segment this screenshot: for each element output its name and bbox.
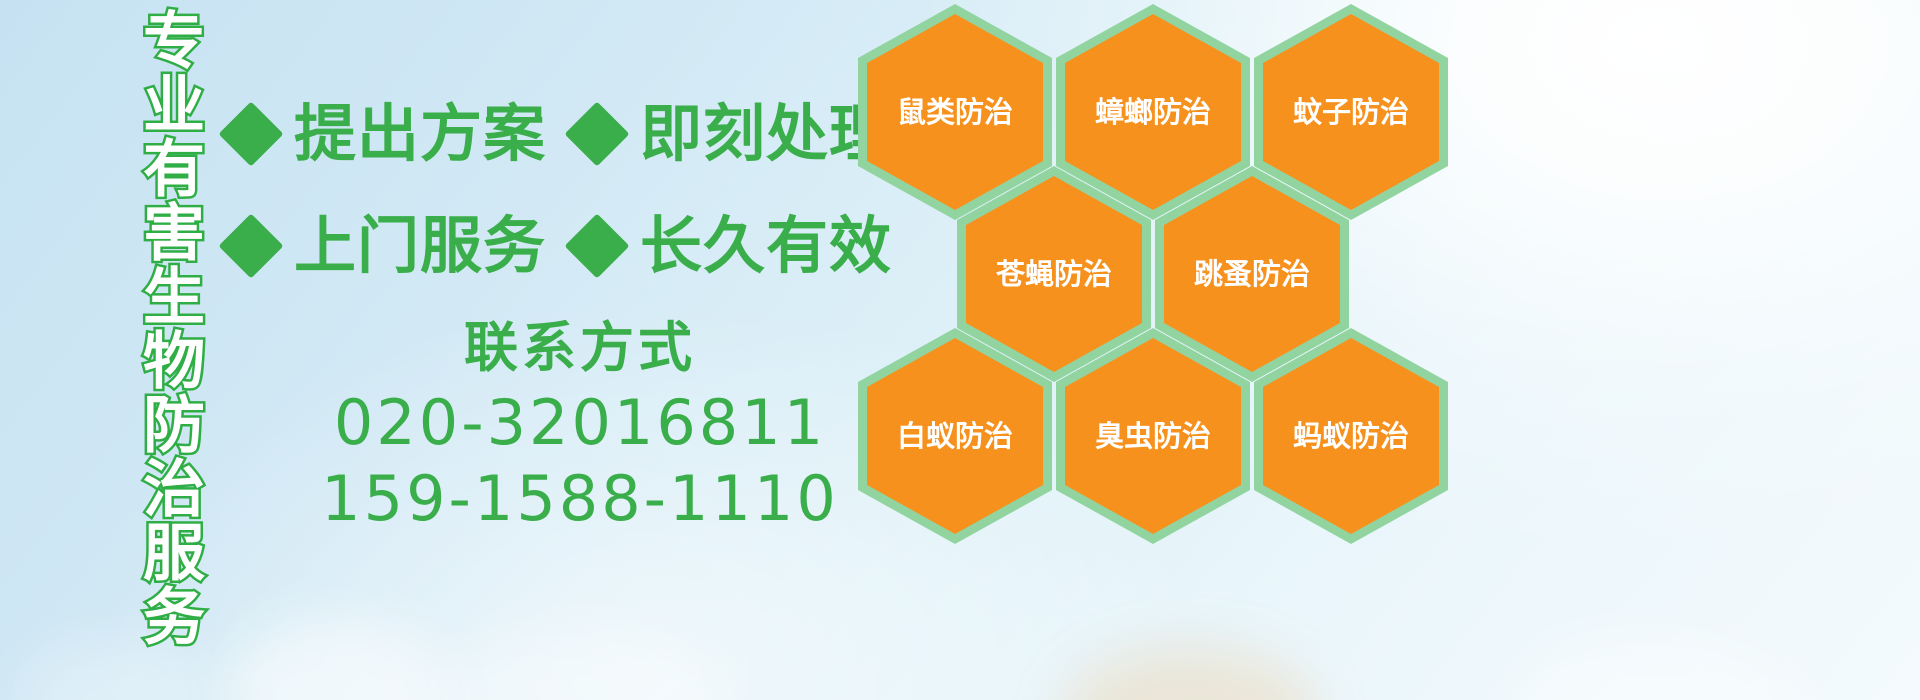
contact-block: 联系方式 020-32016811 159-1588-1110 xyxy=(300,312,860,536)
feature-item-propose-plan: 提出方案 xyxy=(228,103,546,165)
contact-title: 联系方式 xyxy=(300,312,860,385)
hex-inner-fill: 苍蝇防治 xyxy=(966,176,1142,372)
hex-inner-fill: 蟑螂防治 xyxy=(1065,14,1241,210)
service-label: 跳蚤防治 xyxy=(1194,260,1310,289)
background-blur-blob xyxy=(1500,636,1800,700)
hex-inner-fill: 鼠类防治 xyxy=(867,14,1043,210)
landline-phone-number[interactable]: 020-32016811 xyxy=(300,385,860,461)
hex-inner-fill: 蚂蚁防治 xyxy=(1263,338,1439,534)
hex-inner-fill: 臭虫防治 xyxy=(1065,338,1241,534)
service-label: 苍蝇防治 xyxy=(996,260,1112,289)
background-blur-blob xyxy=(220,620,450,700)
feature-list: 提出方案 即刻处理 上门服务 长久有效 xyxy=(228,78,868,302)
hex-inner-fill: 跳蚤防治 xyxy=(1164,176,1340,372)
service-label: 蚂蚁防治 xyxy=(1293,422,1409,451)
service-label: 蟑螂防治 xyxy=(1095,98,1211,127)
background-blur-blob xyxy=(430,630,730,700)
vertical-headline: 专业有害生物防治服务 xyxy=(108,8,200,648)
diamond-bullet-icon xyxy=(218,213,283,278)
feature-row: 提出方案 即刻处理 xyxy=(228,78,868,190)
diamond-bullet-icon xyxy=(218,101,283,166)
background-blur-blob xyxy=(20,640,210,700)
hex-inner-fill: 白蚁防治 xyxy=(867,338,1043,534)
service-honeycomb: 鼠类防治 蟑螂防治 蚊子防治 苍蝇防治 跳蚤防治 白蚁防治 xyxy=(852,0,1472,606)
pest-control-banner: 专业有害生物防治服务 提出方案 即刻处理 上门服务 长久有效 联系方式 0 xyxy=(0,0,1920,700)
feature-item-door-to-door-service: 上门服务 xyxy=(228,215,546,277)
diamond-bullet-icon xyxy=(564,101,629,166)
service-label: 蚊子防治 xyxy=(1293,98,1409,127)
service-label: 臭虫防治 xyxy=(1095,422,1211,451)
mobile-phone-number[interactable]: 159-1588-1110 xyxy=(300,461,860,537)
feature-label: 提出方案 xyxy=(294,103,546,165)
feature-item-long-lasting-effect: 长久有效 xyxy=(574,215,892,277)
feature-item-immediate-handling: 即刻处理 xyxy=(574,103,892,165)
feature-row: 上门服务 长久有效 xyxy=(228,190,868,302)
service-label: 白蚁防治 xyxy=(897,422,1013,451)
background-blur-blob xyxy=(1060,646,1320,700)
diamond-bullet-icon xyxy=(564,213,629,278)
service-label: 鼠类防治 xyxy=(897,98,1013,127)
hex-inner-fill: 蚊子防治 xyxy=(1263,14,1439,210)
feature-label: 上门服务 xyxy=(294,215,546,277)
